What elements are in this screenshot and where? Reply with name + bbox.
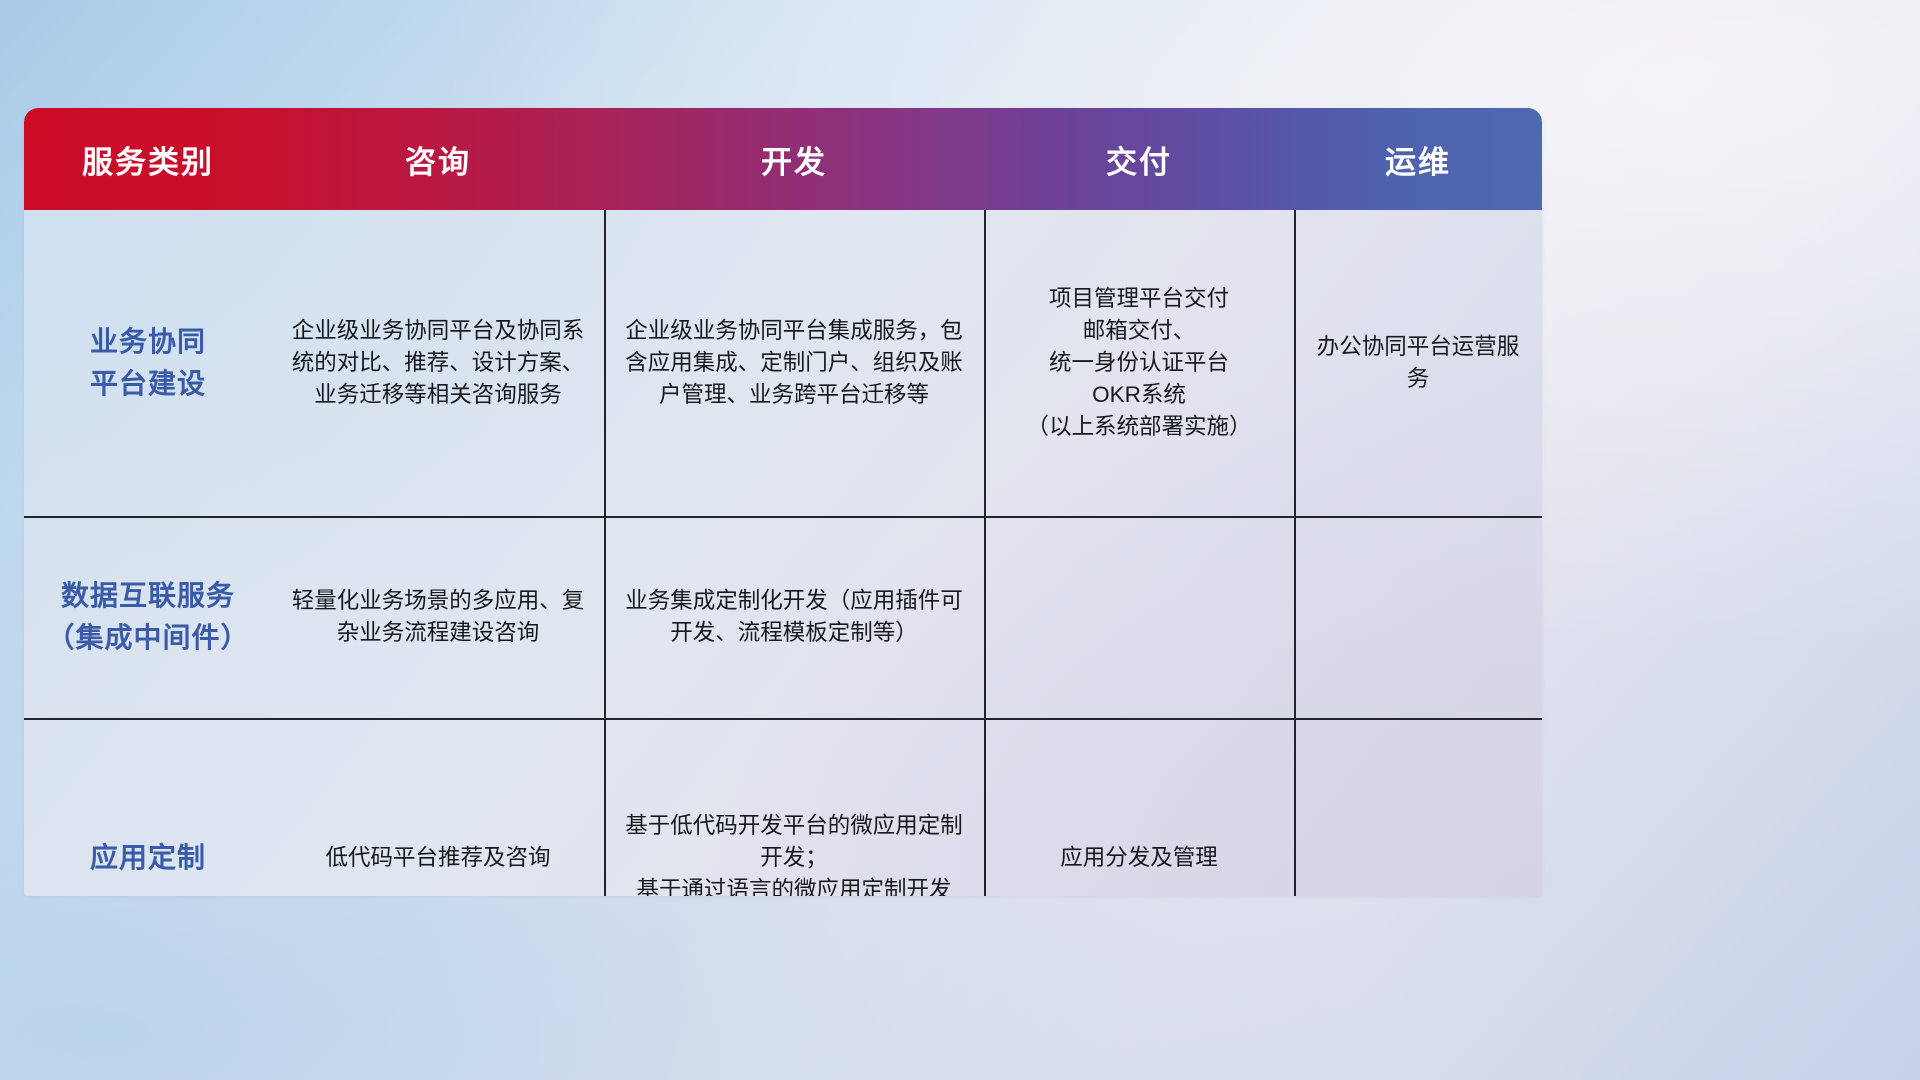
table-row: 业务协同平台建设 企业级业务协同平台及协同系统的对比、推荐、设计方案、业务迁移等… [24, 210, 1542, 516]
cell-development: 企业级业务协同平台集成服务，包含应用集成、定制门户、组织及账户管理、业务跨平台迁… [604, 210, 984, 516]
column-header-development: 开发 [604, 137, 984, 182]
row-category-label: 应用定制 [24, 718, 272, 896]
cell-operations [1294, 516, 1542, 718]
cell-consulting: 企业级业务协同平台及协同系统的对比、推荐、设计方案、业务迁移等相关咨询服务 [272, 210, 604, 516]
cell-development: 业务集成定制化开发（应用插件可开发、流程模板定制等） [604, 516, 984, 718]
column-divider [984, 516, 986, 718]
column-header-category: 服务类别 [24, 137, 272, 182]
column-divider [1294, 516, 1296, 718]
table-header-row: 服务类别 咨询 开发 交付 运维 [24, 108, 1542, 210]
table-row: 数据互联服务（集成中间件） 轻量化业务场景的多应用、复杂业务流程建设咨询 业务集… [24, 516, 1542, 718]
cell-delivery: 项目管理平台交付邮箱交付、统一身份认证平台OKR系统（以上系统部署实施） [984, 210, 1294, 516]
column-header-consulting: 咨询 [272, 137, 604, 182]
cell-delivery: 应用分发及管理 [984, 718, 1294, 896]
cell-operations [1294, 718, 1542, 896]
cell-development: 基于低代码开发平台的微应用定制开发；基于通过语言的微应用定制开发 [604, 718, 984, 896]
table-row: 应用定制 低代码平台推荐及咨询 基于低代码开发平台的微应用定制开发；基于通过语言… [24, 718, 1542, 896]
cell-consulting: 轻量化业务场景的多应用、复杂业务流程建设咨询 [272, 516, 604, 718]
column-divider [1294, 210, 1296, 516]
row-category-label: 数据互联服务（集成中间件） [24, 516, 272, 718]
column-divider [604, 718, 606, 896]
column-divider [984, 718, 986, 896]
row-divider [24, 718, 1542, 720]
column-divider [984, 210, 986, 516]
column-header-delivery: 交付 [984, 137, 1294, 182]
cell-delivery [984, 516, 1294, 718]
service-matrix-table: 服务类别 咨询 开发 交付 运维 业务协同平台建设 企业级业务协同平台及协同系统… [24, 108, 1542, 896]
cell-operations: 办公协同平台运营服务 [1294, 210, 1542, 516]
cell-consulting: 低代码平台推荐及咨询 [272, 718, 604, 896]
table-body: 业务协同平台建设 企业级业务协同平台及协同系统的对比、推荐、设计方案、业务迁移等… [24, 210, 1542, 896]
column-divider [604, 516, 606, 718]
column-divider [604, 210, 606, 516]
row-divider [24, 516, 1542, 518]
row-category-label: 业务协同平台建设 [24, 210, 272, 516]
column-header-operations: 运维 [1294, 137, 1542, 182]
column-divider [1294, 718, 1296, 896]
